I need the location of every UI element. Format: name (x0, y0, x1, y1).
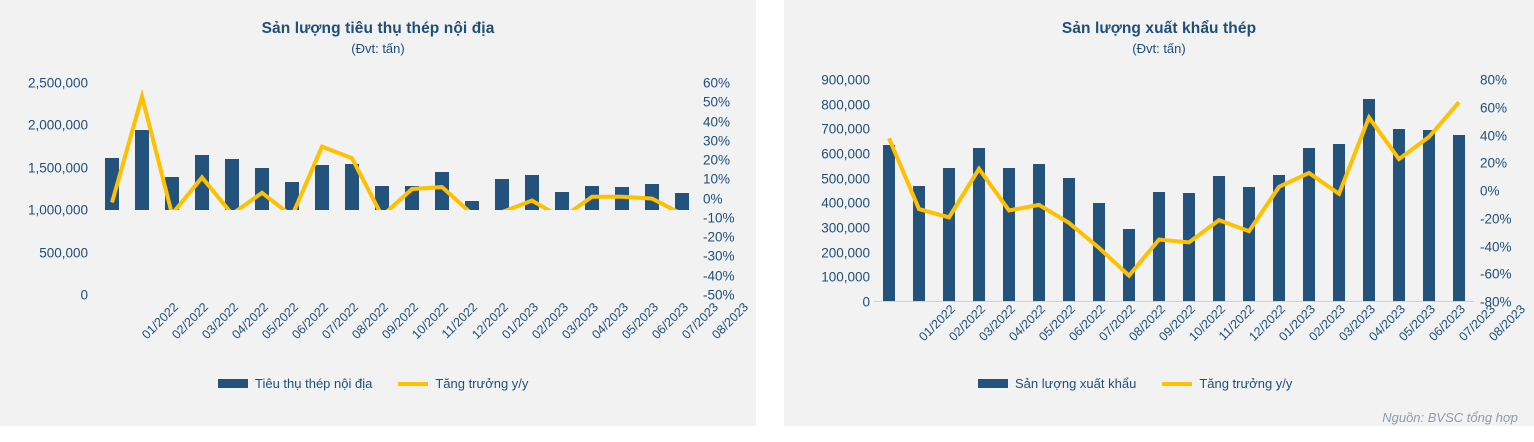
chart-board: Sản lượng tiêu thụ thép nội địa (Đvt: tấ… (0, 0, 1534, 442)
y-tick-left: 300,000 (821, 221, 870, 236)
legend-bar-swatch-icon (218, 379, 248, 388)
y-tick-left: 700,000 (821, 122, 870, 137)
y-tick-left: 400,000 (821, 196, 870, 211)
y-tick-left: 2,500,000 (28, 76, 88, 91)
growth-line (112, 96, 682, 210)
legend-line-swatch-icon (398, 382, 428, 386)
line-series-export (874, 74, 1474, 302)
legend-label: Sản lượng xuất khẩu (1015, 376, 1136, 391)
y-tick-right: -50% (703, 288, 735, 303)
line-series-domestic (97, 70, 697, 210)
legend-export: Sản lượng xuất khẩuTăng trưởng y/y (978, 376, 1292, 391)
y-tick-right: 40% (1480, 128, 1507, 143)
y-tick-right: 0% (703, 191, 723, 206)
legend-bar-swatch-icon (978, 379, 1008, 388)
legend-label: Tiêu thụ thép nội địa (255, 376, 372, 391)
chart-title-domestic: Sản lượng tiêu thụ thép nội địa (0, 20, 756, 38)
y-tick-right: 50% (703, 95, 730, 110)
y-tick-right: -40% (1480, 239, 1512, 254)
y-tick-left: 800,000 (821, 97, 870, 112)
y-tick-left: 1,500,000 (28, 160, 88, 175)
y-axis-left-domestic: 0500,0001,000,0001,500,0002,000,0002,500… (0, 0, 88, 442)
source-note: Nguồn: BVSC tổng hợp (1382, 410, 1518, 425)
y-axis-right-domestic: -50%-40%-30%-20%-10%0%10%20%30%40%50%60% (703, 0, 763, 442)
legend-label: Tăng trưởng y/y (435, 376, 528, 391)
y-tick-right: 40% (703, 114, 730, 129)
y-tick-right: -40% (703, 268, 735, 283)
y-tick-left: 600,000 (821, 147, 870, 162)
legend-domestic: Tiêu thụ thép nội địaTăng trưởng y/y (218, 376, 528, 391)
y-tick-right: 10% (703, 172, 730, 187)
y-tick-left: 2,000,000 (28, 118, 88, 133)
y-tick-left: 0 (80, 288, 88, 303)
y-tick-right: 80% (1480, 73, 1507, 88)
legend-label: Tăng trưởng y/y (1199, 376, 1292, 391)
legend-item[interactable]: Tiêu thụ thép nội địa (218, 376, 372, 391)
chart-subtitle-domestic: (Đvt: tấn) (0, 41, 756, 56)
y-axis-right-export: -80%-60%-40%-20%0%20%40%60%80% (1480, 0, 1534, 442)
y-tick-right: 0% (1480, 184, 1500, 199)
y-tick-right: -20% (703, 230, 735, 245)
y-tick-left: 100,000 (821, 270, 870, 285)
legend-line-swatch-icon (1162, 382, 1192, 386)
y-tick-left: 500,000 (821, 171, 870, 186)
y-tick-left: 200,000 (821, 245, 870, 260)
y-tick-right: 30% (703, 133, 730, 148)
legend-item[interactable]: Tăng trưởng y/y (1162, 376, 1292, 391)
y-tick-right: -60% (1480, 267, 1512, 282)
plot-area-export (874, 74, 1474, 302)
y-tick-right: 60% (1480, 100, 1507, 115)
legend-item[interactable]: Sản lượng xuất khẩu (978, 376, 1136, 391)
y-tick-left: 900,000 (821, 73, 870, 88)
legend-item[interactable]: Tăng trưởng y/y (398, 376, 528, 391)
y-tick-right: -10% (703, 210, 735, 225)
y-tick-left: 500,000 (39, 245, 88, 260)
y-tick-left: 1,000,000 (28, 203, 88, 218)
y-tick-right: 20% (703, 153, 730, 168)
chart-subtitle-export: (Đvt: tấn) (784, 41, 1534, 56)
y-tick-right: 60% (703, 76, 730, 91)
y-tick-left: 0 (862, 295, 870, 310)
plot-area-domestic (97, 70, 697, 210)
chart-title-export: Sản lượng xuất khẩu thép (784, 20, 1534, 38)
growth-line (889, 102, 1459, 275)
y-axis-left-export: 0100,000200,000300,000400,000500,000600,… (782, 0, 870, 442)
y-tick-right: -20% (1480, 211, 1512, 226)
y-tick-right: 20% (1480, 156, 1507, 171)
y-tick-right: -30% (703, 249, 735, 264)
